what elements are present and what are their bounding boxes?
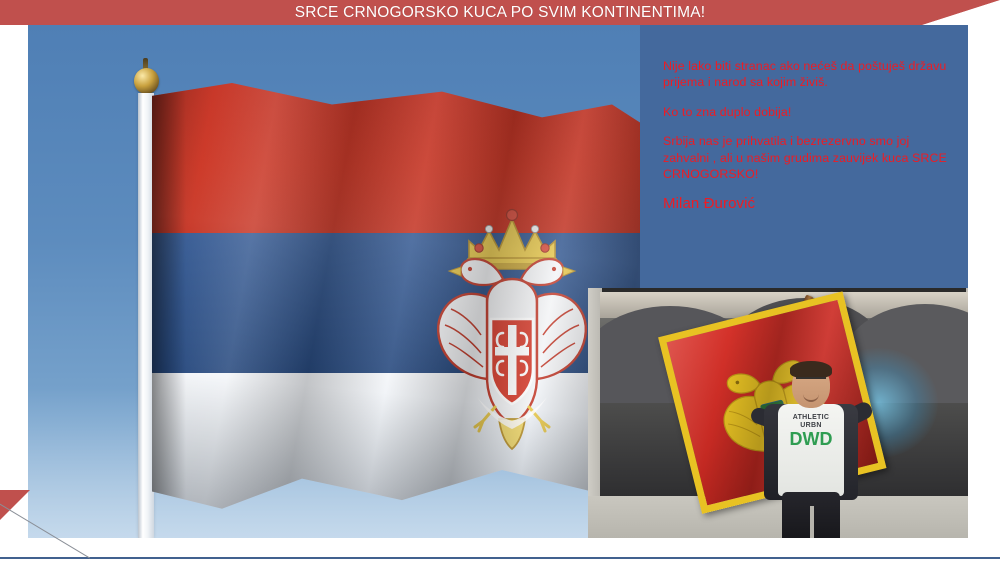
tshirt-text-line-1: ATHLETIC [793,414,830,421]
presentation-slide: SRCE CRNOGORSKO KUCA PO SVIM KONTINENTIM… [0,0,1000,565]
serbian-flag-cloth [152,83,640,513]
page-title: SRCE CRNOGORSKO KUCA PO SVIM KONTINENTIM… [0,0,1000,25]
corner-diagonal-rule [0,500,94,560]
tshirt-text-line-2: URBN [800,422,821,429]
person-hair [790,361,832,378]
quote-paragraph-3: Srbija nas je prihvatila i bezrezervno s… [663,133,948,182]
author-signature: Milan Đurović [663,195,948,213]
leg-gap [810,506,814,538]
bottom-rule [0,557,1000,559]
serbian-flag-photo [28,25,640,538]
slide-content-panel: Nije lako biti stranac ako nećeš da pošt… [28,25,968,538]
quote-paragraph-1: Nije lako biti stranac ako nećeš da pošt… [663,58,948,91]
tshirt-text: ATHLETIC URBN DWD [780,414,842,448]
flagpole [138,93,154,538]
tshirt-text-logo: DWD [790,429,833,449]
flagpole-finial-ball-icon [134,68,159,94]
person-glasses-icon [796,377,826,386]
serbian-coat-of-arms-icon [417,201,607,451]
person-holding-flag: ATHLETIC URBN DWD [748,364,872,538]
person-legs [782,492,840,538]
quote-paragraph-2: Ko to zna duplo dobija! [663,104,948,120]
quote-text-block: Nije lako biti stranac ako nećeš da pošt… [663,58,948,213]
flag-hoist-shadow [152,83,186,513]
montenegro-flag-photo: ATHLETIC URBN DWD [588,288,968,538]
